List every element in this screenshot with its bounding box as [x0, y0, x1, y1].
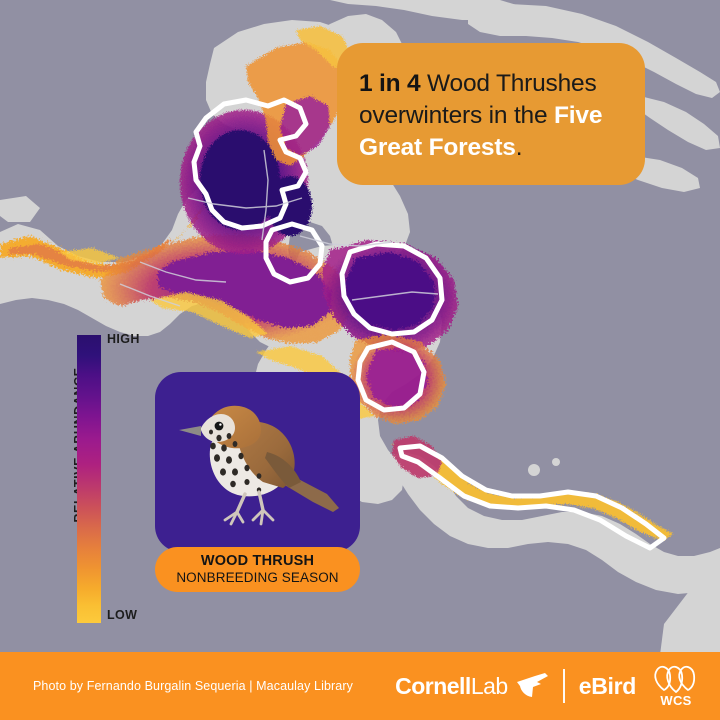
ebird-logo[interactable]: eBird	[579, 673, 636, 700]
land-isle-2	[552, 458, 560, 466]
footer-bar: Photo by Fernando Burgalin Sequeria | Ma…	[0, 652, 720, 720]
cornell-lab-wordmark: CornellLab	[395, 673, 508, 700]
species-card	[155, 372, 360, 552]
wood-thrush-icon	[167, 386, 349, 538]
species-season: NONBREEDING SEASON	[176, 570, 338, 586]
stat-number: 1 in 4	[359, 70, 420, 97]
stat-highlight-five: Five	[554, 102, 602, 129]
bird-beak	[179, 426, 201, 436]
stat-callout: 1 in 4 Wood Thrushes overwinters in the …	[337, 43, 645, 185]
stat-period: .	[516, 134, 523, 161]
species-name: WOOD THRUSH	[201, 554, 314, 569]
photo-credit: Photo by Fernando Burgalin Sequeria | Ma…	[33, 679, 353, 693]
wcs-wordmark: WCS	[660, 693, 691, 708]
bird-feet	[225, 510, 273, 524]
bird-eye-glint	[219, 423, 221, 425]
stat-line2: overwinters in the	[359, 102, 554, 129]
legend-gradient-bar	[77, 335, 101, 623]
land-isle-1	[528, 464, 540, 476]
logo-group: CornellLab eBird WCS	[395, 664, 702, 708]
stat-highlight-great-forests: Great Forests	[359, 134, 516, 161]
cornell-bold-text: Cornell	[395, 673, 471, 699]
cornell-lab-logo[interactable]: CornellLab	[395, 671, 549, 701]
cornell-bird-icon	[515, 671, 549, 701]
wcs-logo[interactable]: WCS	[650, 664, 702, 708]
stat-callout-text: 1 in 4 Wood Thrushes overwinters in the …	[359, 68, 602, 165]
infographic-root: 1 in 4 Wood Thrushes overwinters in the …	[0, 0, 720, 720]
bird-eye	[215, 422, 224, 431]
legend-low-label: LOW	[107, 608, 137, 622]
abundance-legend: RELATIVE ABUNDANCE HIGH LOW	[44, 330, 154, 630]
species-label-pill: WOOD THRUSH NONBREEDING SEASON	[155, 547, 360, 592]
stat-line1: Wood Thrushes	[420, 70, 596, 97]
cornell-light-text: Lab	[471, 673, 508, 699]
logo-divider	[563, 669, 565, 703]
wcs-loops-icon	[650, 664, 702, 696]
legend-high-label: HIGH	[107, 332, 140, 346]
